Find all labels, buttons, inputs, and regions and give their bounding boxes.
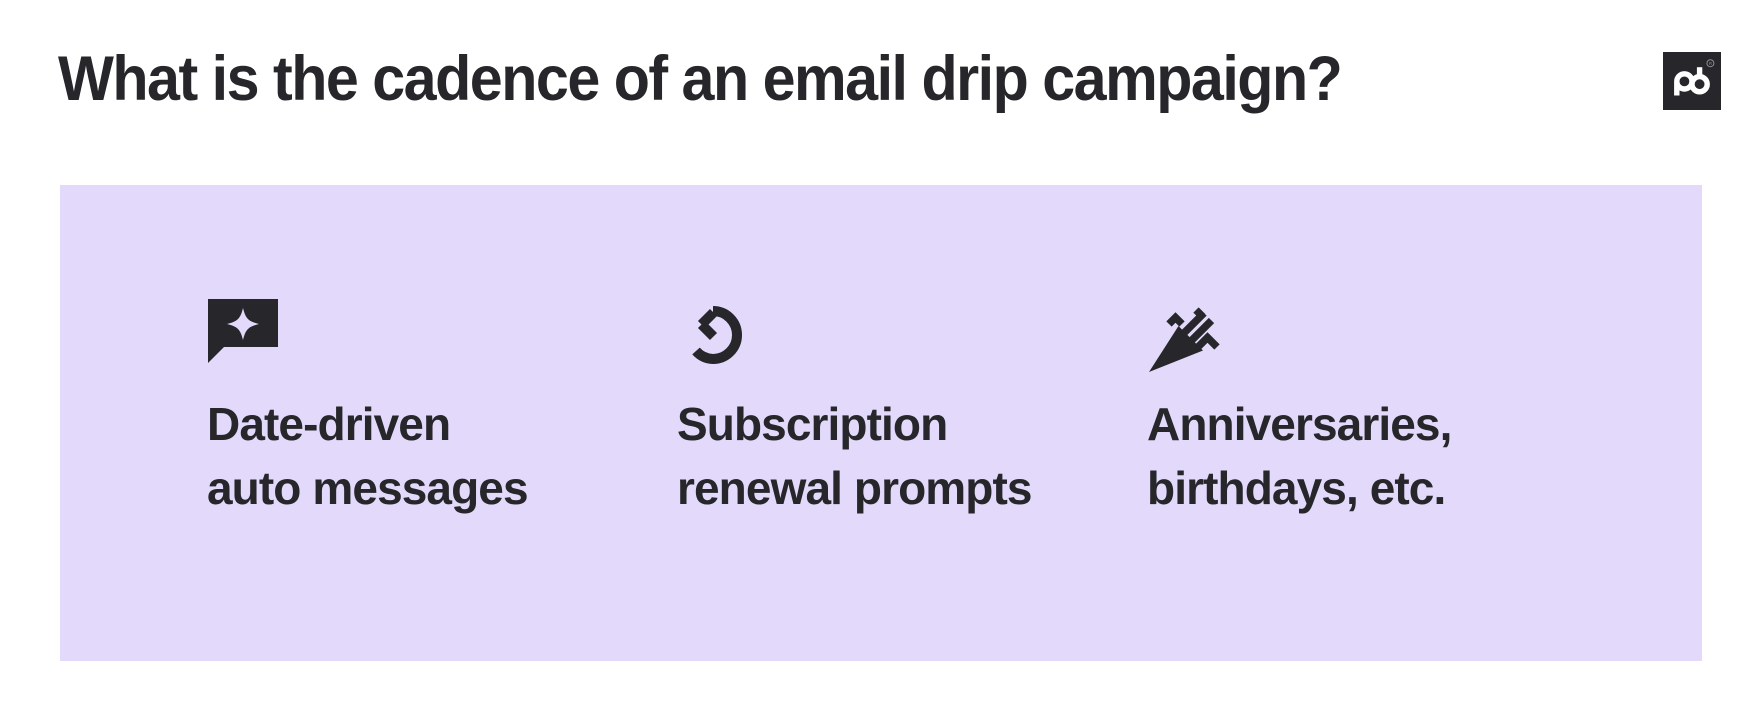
card-label: Subscription renewal prompts	[677, 392, 1032, 520]
svg-text:R: R	[1709, 61, 1712, 66]
pandadoc-logo: R	[1663, 52, 1721, 110]
card-date-driven-auto-messages: Date-driven auto messages	[207, 298, 677, 520]
refresh-loop-icon	[677, 298, 749, 378]
content-panel: Date-driven auto messages Subscription r…	[60, 185, 1702, 661]
card-subscription-renewal-prompts: Subscription renewal prompts	[677, 298, 1147, 520]
card-row: Date-driven auto messages Subscription r…	[207, 298, 1627, 598]
page-title: What is the cadence of an email drip cam…	[58, 42, 1341, 116]
speech-bubble-sparkle-icon	[207, 298, 279, 378]
card-label: Date-driven auto messages	[207, 392, 528, 520]
party-popper-confetti-icon	[1147, 298, 1231, 378]
card-label: Anniversaries, birthdays, etc.	[1147, 392, 1451, 520]
slide-header: What is the cadence of an email drip cam…	[0, 0, 1760, 160]
slide-canvas: What is the cadence of an email drip cam…	[0, 0, 1760, 720]
card-anniversaries-birthdays: Anniversaries, birthdays, etc.	[1147, 298, 1617, 520]
